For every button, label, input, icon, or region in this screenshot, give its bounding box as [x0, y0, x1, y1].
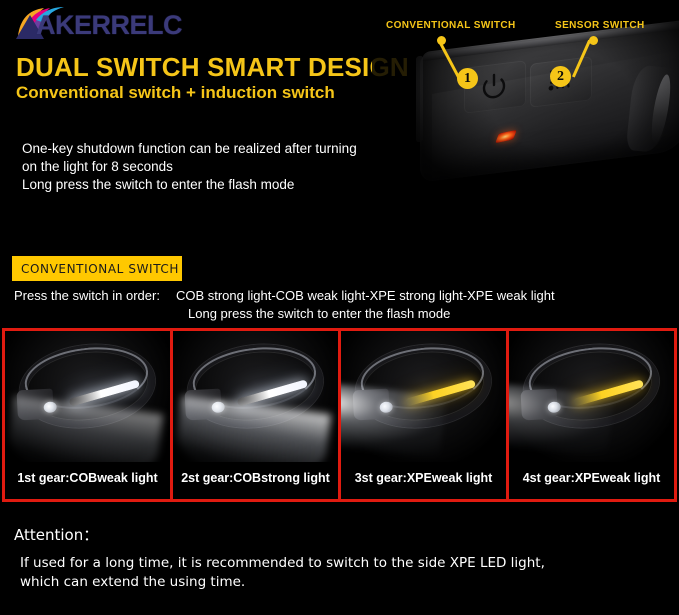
headband-side-lens	[547, 400, 561, 413]
gear-caption: 2st gear:COBstrong light	[173, 462, 338, 493]
gear-caption: 3st gear:XPEweak light	[341, 462, 506, 493]
gear-caption: 4st gear:XPEweak light	[509, 462, 674, 493]
gear-photo-4	[509, 331, 674, 462]
gear-cell[interactable]: 3st gear:XPEweak light	[341, 331, 506, 499]
headband-illustration	[350, 337, 496, 445]
long-press-note: Long press the switch to enter the flash…	[188, 306, 450, 321]
callout-label-conventional-switch: CONVENTIONAL SWITCH	[386, 20, 516, 31]
conventional-switch-badge: CONVENTIONAL SWITCH	[12, 256, 182, 281]
headband-illustration	[182, 337, 328, 445]
press-order-lead: Press the switch in order:	[14, 288, 160, 303]
attention-section: Attention： If used for a long time, it i…	[0, 510, 679, 615]
page-title: DUAL SWITCH SMART DESIGN	[16, 52, 409, 83]
gear-grid: 1st gear:COBweak light 2st gear:COBstron…	[2, 328, 677, 502]
attention-body-line-1: If used for a long time, it is recommend…	[20, 554, 545, 573]
callout-badge-2: 2	[550, 66, 571, 87]
hero-description: One-key shutdown function can be realize…	[22, 140, 357, 194]
headband-side-lens	[211, 400, 225, 413]
gear-cell[interactable]: 1st gear:COBweak light	[5, 331, 170, 499]
hero-description-line-2: on the light for 8 seconds	[22, 158, 357, 176]
callout-label-sensor-switch: SENSOR SWITCH	[555, 20, 645, 31]
brand-logo: AKERRELC	[14, 6, 182, 42]
press-order-row: Press the switch in order:COB strong lig…	[14, 288, 555, 303]
hero-description-line-3: Long press the switch to enter the flash…	[22, 176, 357, 194]
hero-section: AKERRELC DUAL SWITCH SMART DESIGN Conven…	[0, 0, 679, 245]
hero-description-line-1: One-key shutdown function can be realize…	[22, 140, 357, 158]
attention-title: Attention：	[14, 524, 98, 545]
gear-photo-1	[5, 331, 170, 462]
gear-photo-3	[341, 331, 506, 462]
conventional-switch-badge-label: CONVENTIONAL SWITCH	[21, 262, 179, 276]
headband-side-lens	[379, 400, 393, 413]
callout-badge-1: 1	[457, 68, 478, 89]
power-icon	[480, 70, 508, 101]
brand-name: AKERRELC	[36, 8, 182, 42]
headband-side-lens	[43, 400, 57, 413]
page-subtitle: Conventional switch + induction switch	[16, 83, 335, 103]
headlamp-left-edge	[416, 56, 423, 143]
press-order-sequence: COB strong light-COB weak light-XPE stro…	[176, 288, 555, 303]
gear-photo-2	[173, 331, 338, 462]
gear-caption: 1st gear:COBweak light	[5, 462, 170, 493]
headband-illustration	[518, 337, 664, 445]
attention-body-line-2: which can extend the using time.	[20, 573, 545, 592]
gear-cell[interactable]: 2st gear:COBstrong light	[173, 331, 338, 499]
headband-illustration	[14, 337, 160, 445]
gear-cell[interactable]: 4st gear:XPEweak light	[509, 331, 674, 499]
attention-body: If used for a long time, it is recommend…	[20, 554, 545, 592]
